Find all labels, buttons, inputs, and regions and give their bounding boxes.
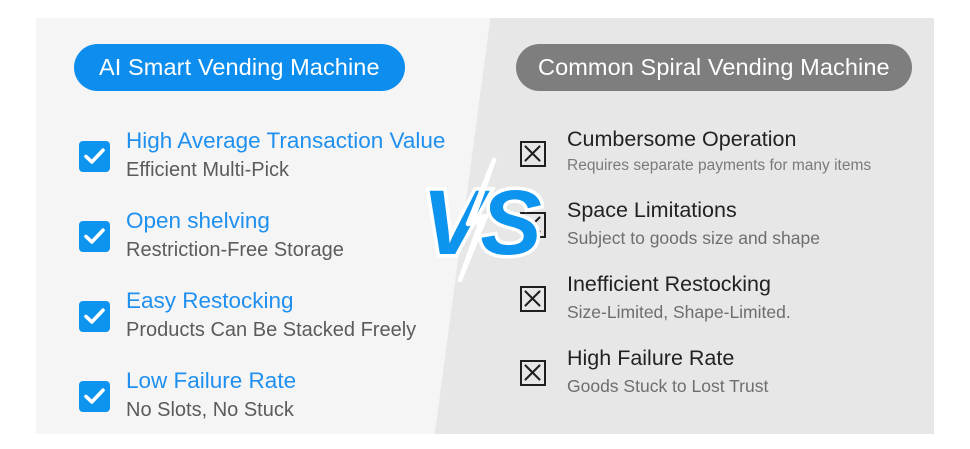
list-item: Space Limitations Subject to goods size … bbox=[520, 201, 920, 250]
list-item: Low Failure Rate No Slots, No Stuck bbox=[79, 370, 439, 423]
drawbacks-list: Cumbersome Operation Requires separate p… bbox=[520, 130, 920, 423]
x-box-icon bbox=[520, 360, 546, 386]
list-item-text: Space Limitations Subject to goods size … bbox=[567, 197, 820, 250]
list-item-subtitle: Products Can Be Stacked Freely bbox=[126, 317, 416, 343]
list-item: High Failure Rate Goods Stuck to Lost Tr… bbox=[520, 349, 920, 398]
list-item-subtitle: No Slots, No Stuck bbox=[126, 397, 296, 423]
list-item-text: Inefficient Restocking Size-Limited, Sha… bbox=[567, 271, 791, 324]
vs-lightning-icon: VS bbox=[424, 158, 544, 282]
list-item: Open shelving Restriction-Free Storage bbox=[79, 210, 439, 263]
list-item-title: Cumbersome Operation bbox=[567, 126, 871, 153]
list-item: Inefficient Restocking Size-Limited, Sha… bbox=[520, 275, 920, 324]
advantages-list: High Average Transaction Value Efficient… bbox=[79, 130, 439, 449]
checkbox-checked-icon bbox=[79, 301, 110, 332]
list-item-text: High Average Transaction Value Efficient… bbox=[126, 127, 445, 183]
list-item-subtitle: Efficient Multi-Pick bbox=[126, 157, 445, 183]
list-item-subtitle: Subject to goods size and shape bbox=[567, 227, 820, 250]
checkbox-checked-icon bbox=[79, 221, 110, 252]
list-item-title: Space Limitations bbox=[567, 197, 820, 224]
list-item-text: Open shelving Restriction-Free Storage bbox=[126, 207, 344, 263]
list-item-title: Low Failure Rate bbox=[126, 367, 296, 395]
list-item-text: Low Failure Rate No Slots, No Stuck bbox=[126, 367, 296, 423]
left-badge: AI Smart Vending Machine bbox=[74, 44, 405, 91]
x-box-icon bbox=[520, 286, 546, 312]
list-item-text: Cumbersome Operation Requires separate p… bbox=[567, 126, 871, 176]
comparison-infographic: AI Smart Vending Machine Common Spiral V… bbox=[0, 0, 970, 434]
list-item-title: Open shelving bbox=[126, 207, 344, 235]
list-item-subtitle: Goods Stuck to Lost Trust bbox=[567, 375, 768, 398]
list-item-title: High Average Transaction Value bbox=[126, 127, 445, 155]
list-item-subtitle: Size-Limited, Shape-Limited. bbox=[567, 301, 791, 324]
list-item: Cumbersome Operation Requires separate p… bbox=[520, 130, 920, 176]
checkbox-checked-icon bbox=[79, 381, 110, 412]
right-badge-label: Common Spiral Vending Machine bbox=[538, 54, 890, 81]
list-item: High Average Transaction Value Efficient… bbox=[79, 130, 439, 183]
list-item-title: Inefficient Restocking bbox=[567, 271, 791, 298]
list-item-text: Easy Restocking Products Can Be Stacked … bbox=[126, 287, 416, 343]
list-item-text: High Failure Rate Goods Stuck to Lost Tr… bbox=[567, 345, 768, 398]
right-badge: Common Spiral Vending Machine bbox=[516, 44, 912, 91]
list-item: Easy Restocking Products Can Be Stacked … bbox=[79, 290, 439, 343]
list-item-title: High Failure Rate bbox=[567, 345, 768, 372]
left-badge-label: AI Smart Vending Machine bbox=[99, 54, 380, 81]
list-item-subtitle: Restriction-Free Storage bbox=[126, 237, 344, 263]
checkbox-checked-icon bbox=[79, 141, 110, 172]
list-item-title: Easy Restocking bbox=[126, 287, 416, 315]
list-item-subtitle: Requires separate payments for many item… bbox=[567, 156, 871, 176]
